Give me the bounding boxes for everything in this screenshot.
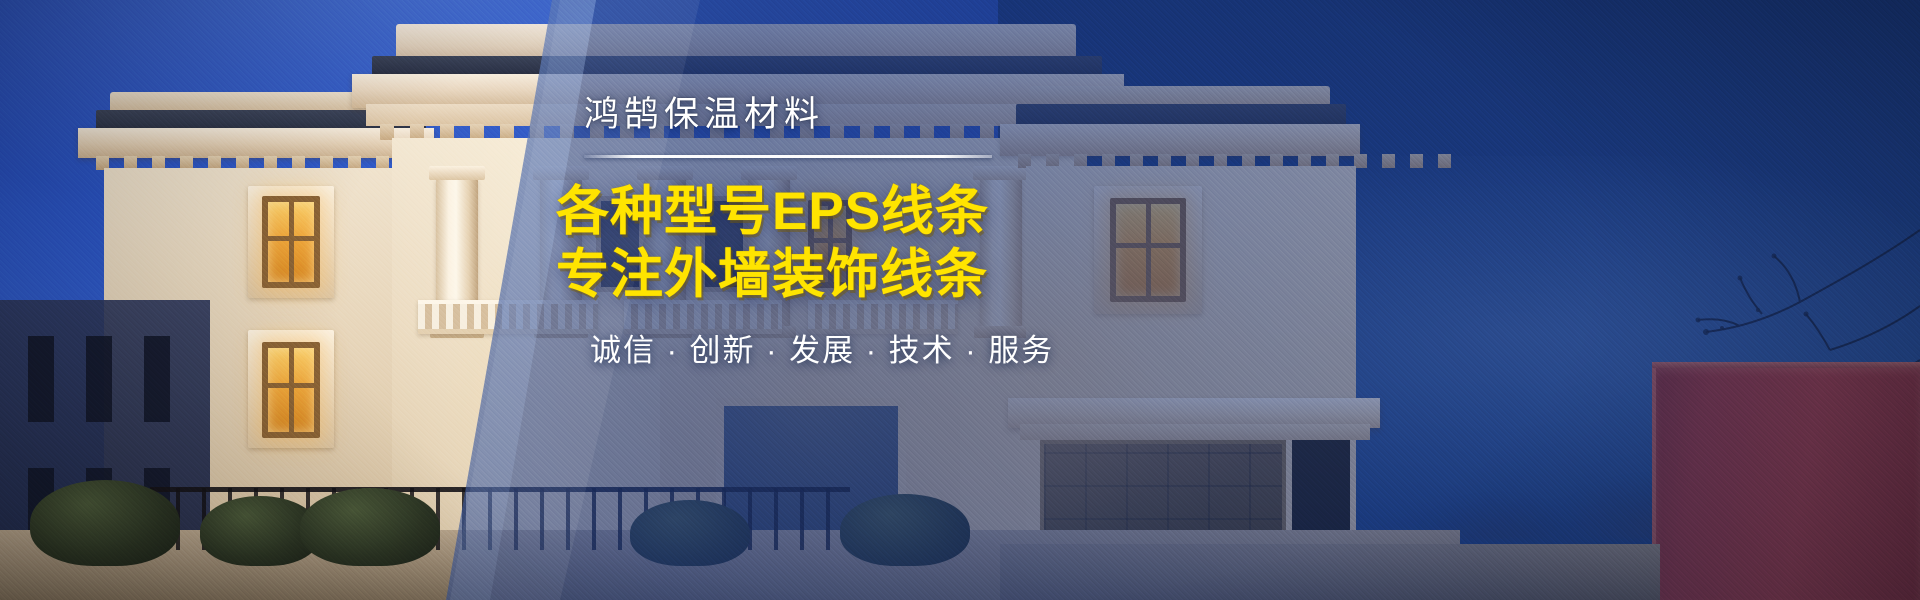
shrub (840, 494, 970, 566)
promo-banner: 鸿鹄保温材料 各种型号EPS线条 专注外墙装饰线条 诚信 · 创新 · 发展 ·… (0, 0, 1920, 600)
banner-copy: 鸿鹄保温材料 各种型号EPS线条 专注外墙装饰线条 诚信 · 创新 · 发展 ·… (556, 96, 1076, 369)
red-wall (1652, 368, 1920, 600)
shrub (630, 500, 750, 566)
ground-driveway (1000, 544, 1660, 600)
brand-name: 鸿鹄保温材料 (556, 96, 1076, 135)
tagline: 诚信 · 创新 · 发展 · 技术 · 服务 (590, 332, 1076, 369)
headline-line-2: 专注外墙装饰线条 (556, 243, 1076, 306)
garage-ledge-lower (1020, 424, 1370, 440)
shrub (300, 488, 440, 566)
headline: 各种型号EPS线条 专注外墙装饰线条 (556, 180, 1076, 306)
dark-window (86, 336, 112, 422)
divider-rule (584, 155, 992, 158)
lit-window (1110, 198, 1186, 302)
shrub (30, 480, 180, 566)
lit-window (262, 196, 320, 288)
lit-window (262, 342, 320, 438)
headline-line-1: 各种型号EPS线条 (556, 182, 989, 241)
dark-window (28, 336, 54, 422)
dark-window (144, 336, 170, 422)
